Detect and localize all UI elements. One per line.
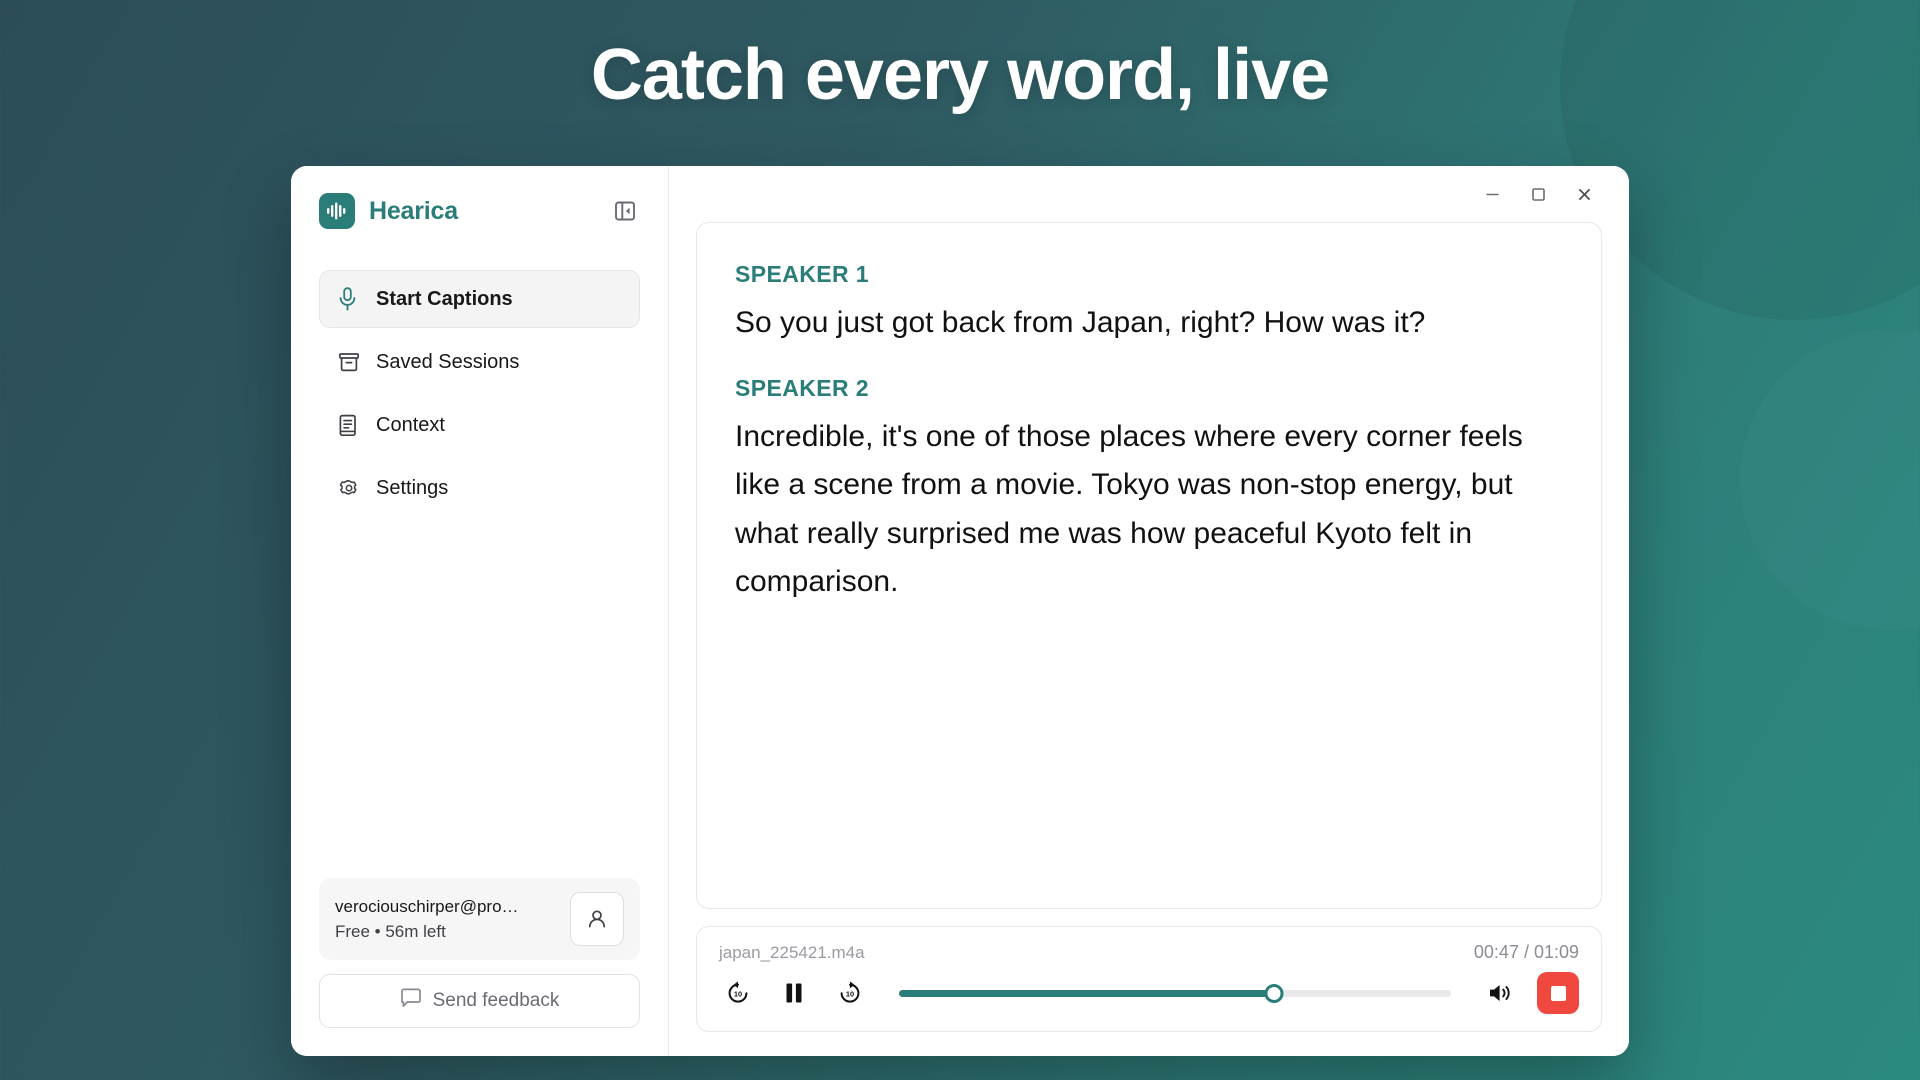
sidebar-item-saved-sessions[interactable]: Saved Sessions: [319, 333, 640, 391]
account-card[interactable]: verociouschirper@pro… Free • 56m left: [319, 878, 640, 960]
speaker-label: SPEAKER 2: [735, 375, 1563, 402]
brand-name: Hearica: [369, 197, 458, 226]
speaker-volume-icon[interactable]: [1481, 974, 1519, 1012]
main-panel: SPEAKER 1 So you just got back from Japa…: [669, 166, 1629, 1056]
player-info-row: japan_225421.m4a 00:47 / 01:09: [719, 942, 1579, 963]
waveform-icon: [319, 193, 355, 229]
transcript-text: Incredible, it's one of those places whe…: [735, 413, 1563, 607]
audio-file-name: japan_225421.m4a: [719, 943, 865, 963]
person-icon: [585, 907, 609, 931]
sidebar-item-context[interactable]: Context: [319, 396, 640, 454]
pause-icon[interactable]: [775, 974, 813, 1012]
player-controls-row: 10 10: [719, 972, 1579, 1014]
sidebar-nav: Start Captions Saved Sessions: [319, 270, 640, 522]
maximize-icon[interactable]: [1515, 174, 1561, 214]
progress-thumb[interactable]: [1265, 984, 1284, 1003]
archive-box-icon: [338, 351, 364, 373]
window-titlebar: [669, 166, 1629, 222]
progress-fill: [899, 990, 1274, 997]
document-lines-icon: [338, 414, 364, 437]
sidebar-item-start-captions[interactable]: Start Captions: [319, 270, 640, 328]
panel-collapse-icon[interactable]: [610, 196, 640, 226]
sidebar-item-label: Settings: [376, 477, 448, 500]
brand-row: Hearica: [319, 166, 640, 250]
account-email: verociouschirper@pro…: [335, 897, 560, 917]
speech-bubble-icon: [400, 988, 422, 1014]
svg-text:10: 10: [734, 990, 742, 999]
transcript-card: SPEAKER 1 So you just got back from Japa…: [696, 222, 1602, 909]
sidebar-item-label: Start Captions: [376, 288, 513, 311]
svg-text:10: 10: [846, 990, 854, 999]
transcript-text: So you just got back from Japan, right? …: [735, 299, 1563, 348]
account-plan: Free • 56m left: [335, 922, 560, 942]
minimize-icon[interactable]: [1469, 174, 1515, 214]
app-window: Hearica Start Captions: [291, 166, 1629, 1056]
rewind-10-icon[interactable]: 10: [719, 974, 757, 1012]
stop-button[interactable]: [1537, 972, 1579, 1014]
forward-10-icon[interactable]: 10: [831, 974, 869, 1012]
sidebar-item-label: Saved Sessions: [376, 351, 519, 374]
background-circle-decoration-secondary: [1740, 330, 1920, 630]
send-feedback-button[interactable]: Send feedback: [319, 974, 640, 1028]
stop-icon: [1551, 986, 1566, 1001]
page-title: Catch every word, live: [0, 34, 1920, 116]
avatar[interactable]: [570, 892, 624, 946]
playback-progress-slider[interactable]: [899, 982, 1451, 1004]
sidebar-spacer: [319, 522, 640, 878]
sidebar-item-settings[interactable]: Settings: [319, 459, 640, 517]
sidebar: Hearica Start Captions: [291, 166, 669, 1056]
send-feedback-label: Send feedback: [433, 990, 560, 1012]
microphone-icon: [338, 287, 364, 311]
account-text: verociouschirper@pro… Free • 56m left: [335, 897, 560, 942]
gear-icon: [338, 477, 364, 499]
audio-player: japan_225421.m4a 00:47 / 01:09 10: [696, 926, 1602, 1032]
speaker-label: SPEAKER 1: [735, 261, 1563, 288]
playback-time: 00:47 / 01:09: [1474, 942, 1579, 963]
sidebar-item-label: Context: [376, 414, 445, 437]
close-icon[interactable]: [1561, 174, 1607, 214]
